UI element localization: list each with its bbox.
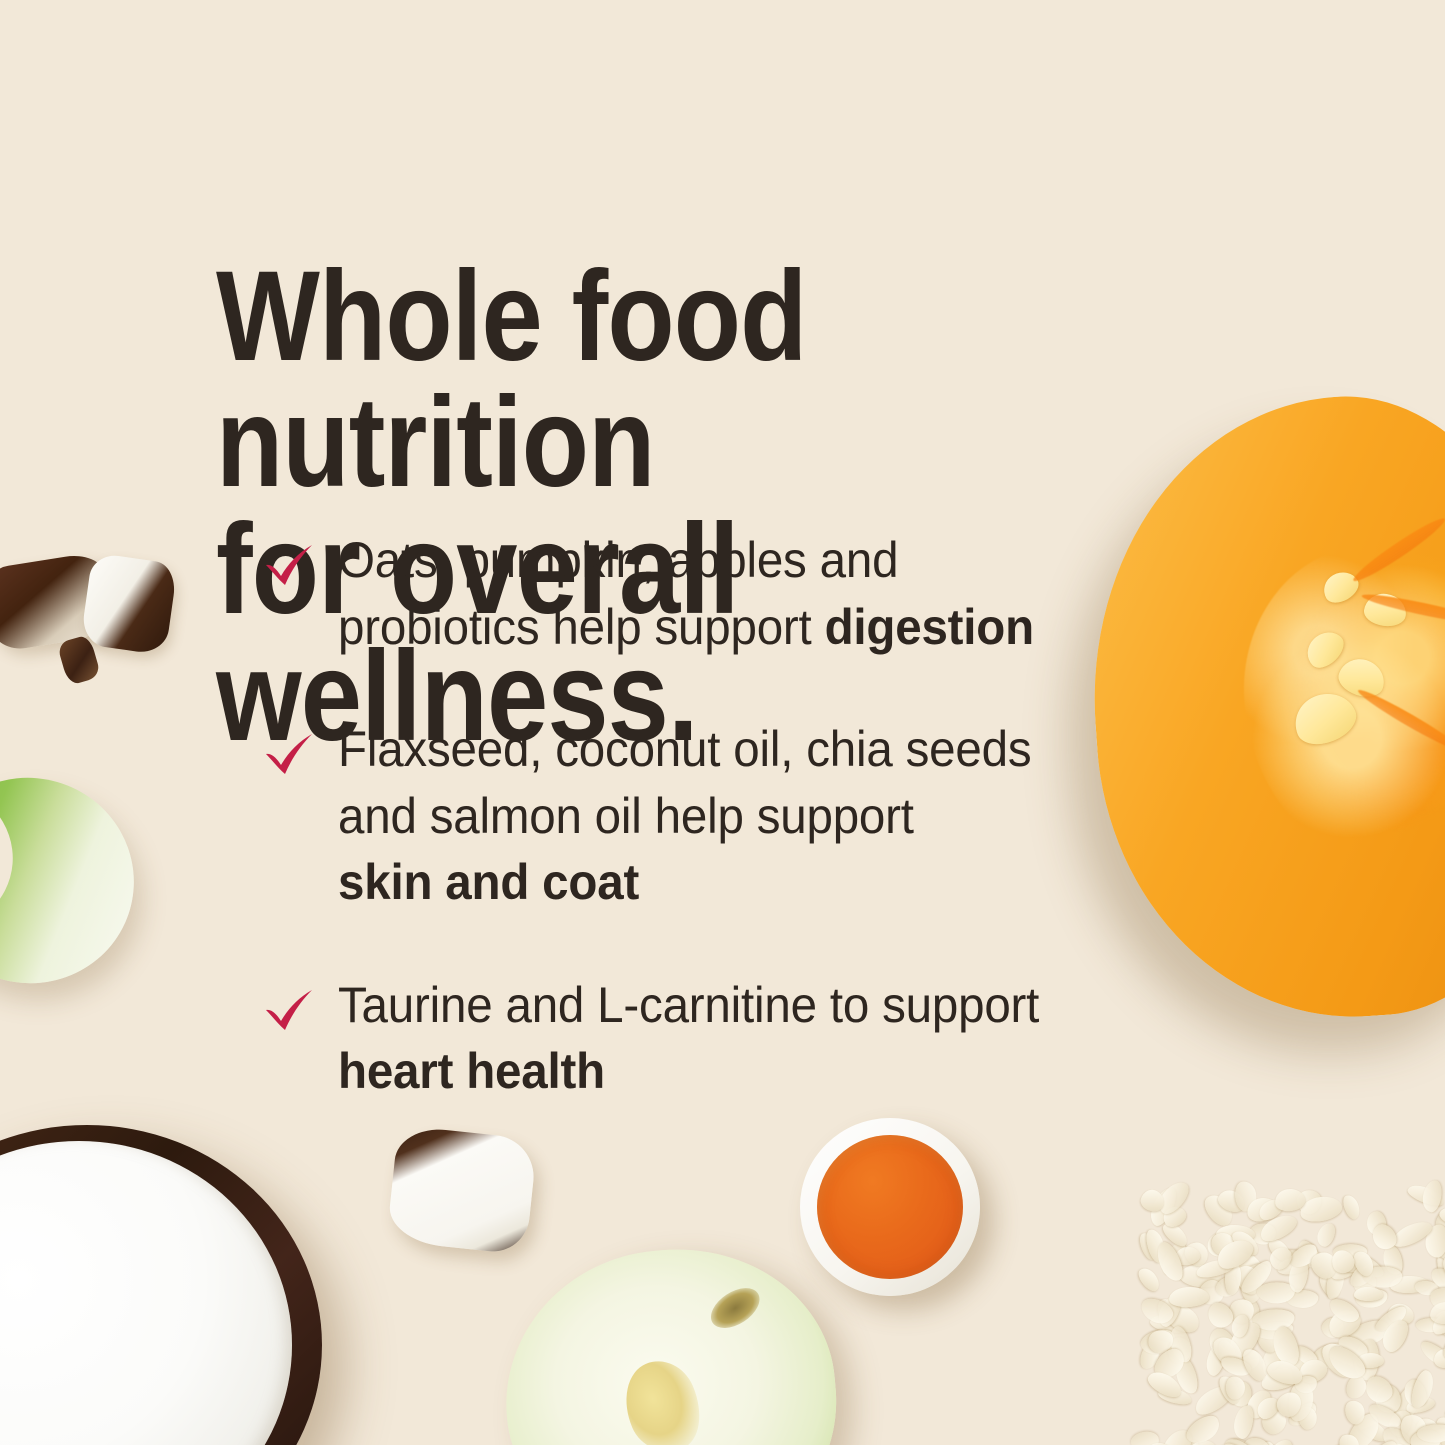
check-icon — [262, 986, 316, 1034]
promo-image-canvas: Whole food nutrition for overall wellnes… — [0, 0, 1445, 1445]
benefit-item: Flaxseed, coconut oil, chia seeds and sa… — [262, 716, 1202, 916]
check-icon — [262, 541, 316, 589]
benefits-list: Oats, pumpkin, apples and probiotics hel… — [262, 527, 1202, 1105]
benefit-item: Oats, pumpkin, apples and probiotics hel… — [262, 527, 1202, 660]
text-layer: Whole food nutrition for overall wellnes… — [0, 0, 1445, 1445]
benefit-text: Flaxseed, coconut oil, chia seeds and sa… — [338, 716, 1159, 916]
benefit-item: Taurine and L-carnitine to support heart… — [262, 972, 1202, 1105]
benefit-emphasis: digestion — [825, 599, 1034, 655]
benefit-text: Oats, pumpkin, apples and probiotics hel… — [338, 527, 1159, 660]
benefit-text: Taurine and L-carnitine to support heart… — [338, 972, 1159, 1105]
check-icon — [262, 730, 316, 778]
benefit-emphasis: skin and coat — [338, 854, 639, 910]
benefit-emphasis: heart health — [338, 1043, 605, 1099]
